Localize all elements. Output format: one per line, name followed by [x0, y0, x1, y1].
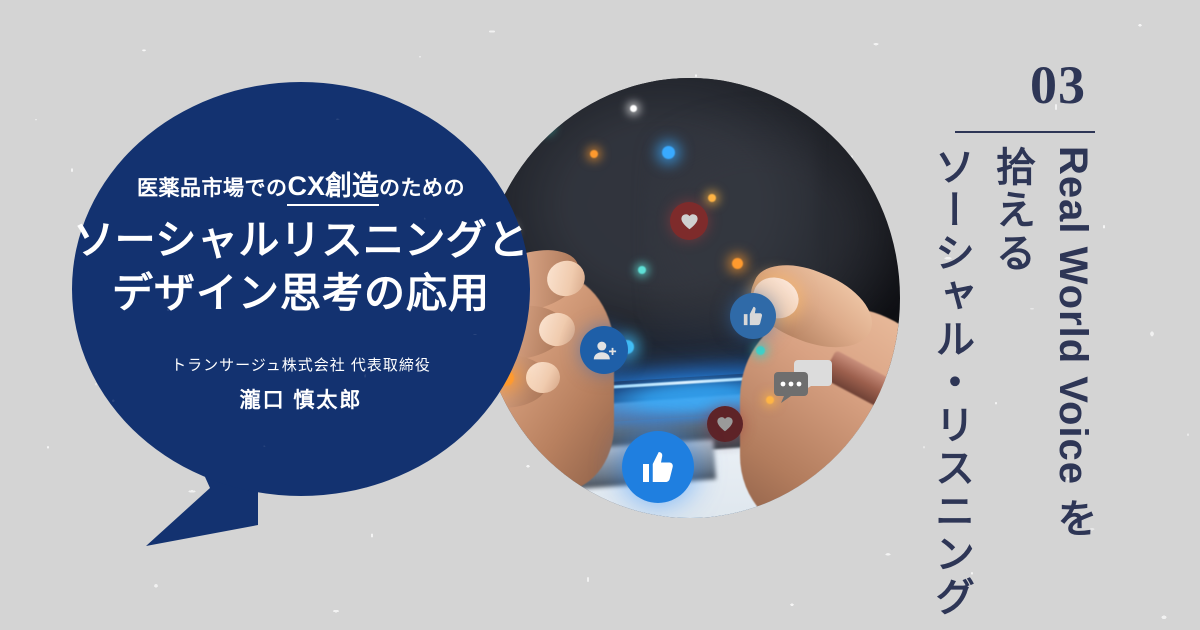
kicker-suffix: のための: [379, 177, 465, 200]
headline: ソーシャルリスニングと デザイン思考の応用: [73, 214, 529, 321]
section-divider-rule: [955, 131, 1095, 133]
thumbs-up-icon: [622, 431, 694, 503]
bokeh-dot: [662, 146, 675, 159]
kicker-line: 医薬品市場でのCX創造のための: [137, 164, 465, 203]
bokeh-dot: [542, 122, 551, 131]
right-panel: 03 ソーシャル・リスニング 拾える Real World Voice を: [920, 0, 1180, 630]
heart-icon: [707, 406, 743, 442]
kicker-prefix: 医薬品市場での: [137, 177, 288, 200]
headline-line-2: デザイン思考の応用: [73, 267, 529, 320]
vertical-line-2: 拾える: [983, 146, 1041, 275]
bokeh-dot: [732, 258, 743, 269]
thumbs-up-icon: [730, 293, 776, 339]
bokeh-dot: [756, 346, 765, 355]
vertical-line-3: ソーシャル・リスニング: [922, 146, 980, 619]
bokeh-dot: [630, 105, 637, 112]
vertical-title: ソーシャル・リスニング 拾える Real World Voice を: [922, 146, 1102, 619]
add-user-icon: [580, 326, 628, 374]
bokeh-dot: [708, 194, 716, 202]
hero-photo: [480, 78, 900, 518]
chat-box-icon: [772, 358, 834, 406]
bokeh-dot: [638, 266, 646, 274]
bokeh-dot: [590, 150, 598, 158]
chat-bubble-icon: [540, 492, 594, 518]
speaker-name: 瀧口 慎太郎: [240, 384, 363, 414]
section-number: 03: [1030, 58, 1086, 112]
presentation-slide: 医薬品市場でのCX創造のための ソーシャルリスニングと デザイン思考の応用 トラ…: [0, 0, 1200, 630]
vertical-line-1: Real World Voice を: [1044, 146, 1102, 538]
bokeh-dot: [600, 506, 608, 514]
headline-line-1: ソーシャルリスニングと: [73, 214, 529, 267]
kicker-emphasis: CX創造: [287, 171, 379, 206]
speaker-role: トランサージュ株式会社 代表取締役: [171, 354, 431, 375]
speech-bubble-content: 医薬品市場でのCX創造のための ソーシャルリスニングと デザイン思考の応用 トラ…: [72, 82, 530, 496]
heart-icon: [670, 202, 708, 240]
